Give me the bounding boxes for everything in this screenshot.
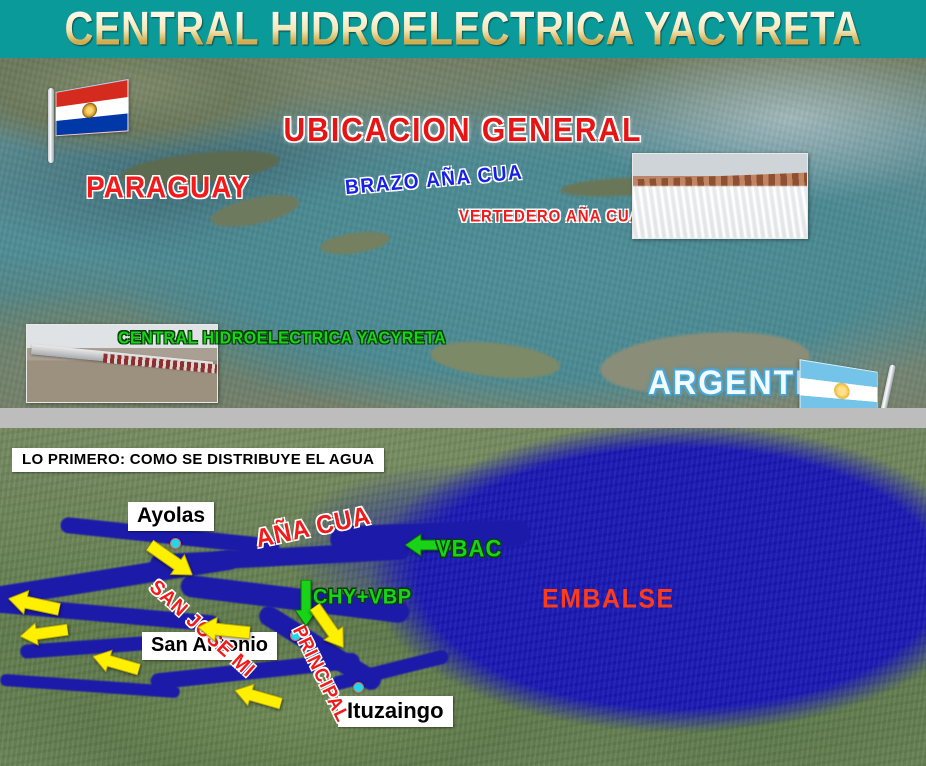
paraguay-flag-cloth	[56, 79, 129, 136]
label-ituzaingo: Ituzaingo	[338, 696, 453, 727]
yellow-flow-arrow-icon	[197, 613, 252, 646]
label-vertedero-ana-cua: VERTEDERO AÑA CUA	[459, 207, 642, 225]
flagpole	[48, 88, 54, 163]
label-ayolas: Ayolas	[128, 502, 214, 531]
top-satellite-panel: UBICACION GENERAL PARAGUAY BRAZO AÑA CUA…	[0, 58, 926, 408]
argentina-flag-cloth	[799, 359, 877, 408]
argentina-sun-icon	[834, 382, 850, 400]
flag-argentina-icon	[796, 306, 906, 396]
spillway-photo	[632, 153, 808, 239]
paraguay-seal-icon	[82, 101, 97, 118]
page-title: CENTRAL HIDROELECTRICA YACYRETA	[64, 2, 861, 55]
satellite-imagery-bottom	[0, 428, 926, 766]
page-header: CENTRAL HIDROELECTRICA YACYRETA	[0, 0, 926, 58]
label-paraguay: PARAGUAY	[86, 171, 250, 206]
bottom-banner: LO PRIMERO: COMO SE DISTRIBUYE EL AGUA	[12, 448, 384, 472]
section-subtitle: UBICACION GENERAL	[0, 112, 926, 149]
panel-divider	[0, 408, 926, 428]
city-marker-ituzaingo	[353, 682, 364, 693]
flag-paraguay-icon	[38, 78, 138, 168]
label-central-hidroelectrica: CENTRAL HIDROELECTRICA YACYRETA	[118, 329, 446, 348]
label-embalse: EMBALSE	[542, 584, 675, 615]
bottom-satellite-panel: LO PRIMERO: COMO SE DISTRIBUYE EL AGUA A…	[0, 428, 926, 766]
label-vbac: VBAC	[436, 535, 502, 563]
